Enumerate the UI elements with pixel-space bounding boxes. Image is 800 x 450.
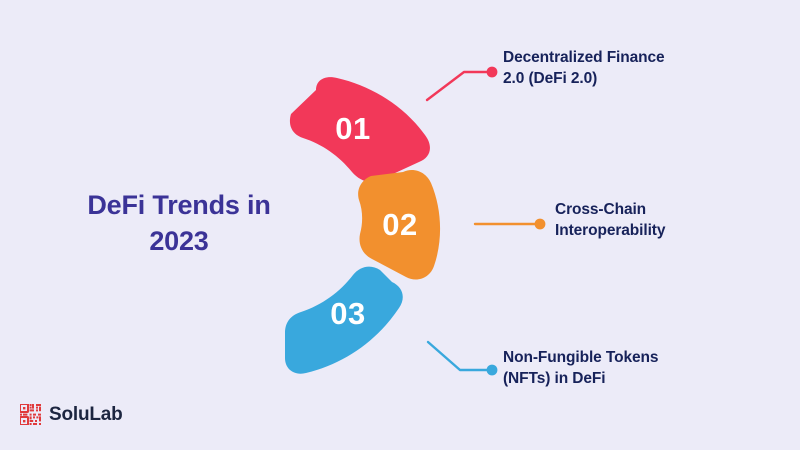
- connector-dot-01: [487, 67, 498, 78]
- callout-label-03-line-1: Non-Fungible Tokens: [503, 348, 658, 369]
- connector-dot-03: [487, 365, 498, 376]
- arc-segment-02-number: 02: [382, 207, 417, 242]
- callout-label-01: Decentralized Finance 2.0 (DeFi 2.0): [503, 48, 665, 90]
- callout-label-02: Cross-Chain Interoperability: [555, 200, 665, 242]
- callout-label-03: Non-Fungible Tokens (NFTs) in DeFi: [503, 348, 658, 390]
- callout-label-01-line-2: 2.0 (DeFi 2.0): [503, 69, 665, 90]
- arc-segment-01[interactable]: 01: [290, 77, 430, 182]
- arc-segment-03[interactable]: 03: [285, 267, 403, 374]
- brand-logo[interactable]: SoluLab: [20, 404, 123, 425]
- callout-label-02-line-1: Cross-Chain: [555, 200, 665, 221]
- connector-line-01-path: [427, 72, 490, 100]
- arc-segment-01-number: 01: [335, 111, 370, 146]
- connector-line-01: [427, 67, 497, 100]
- connector-line-03: [428, 342, 497, 375]
- solulab-qr-mark-icon: [20, 404, 41, 425]
- callout-label-03-line-2: (NFTs) in DeFi: [503, 369, 658, 390]
- connector-dot-02: [535, 219, 546, 230]
- connector-line-02: [475, 219, 545, 230]
- callout-label-02-line-2: Interoperability: [555, 221, 665, 242]
- arc-segment-02[interactable]: 02: [358, 170, 440, 279]
- arc-segment-03-number: 03: [330, 296, 365, 331]
- brand-logo-text: SoluLab: [49, 405, 123, 424]
- connector-line-03-path: [428, 342, 490, 370]
- segmented-arc-diagram: 01 02 03: [0, 0, 800, 450]
- infographic-canvas: DeFi Trends in 2023 01 02 03: [0, 0, 800, 450]
- callout-label-01-line-1: Decentralized Finance: [503, 48, 665, 69]
